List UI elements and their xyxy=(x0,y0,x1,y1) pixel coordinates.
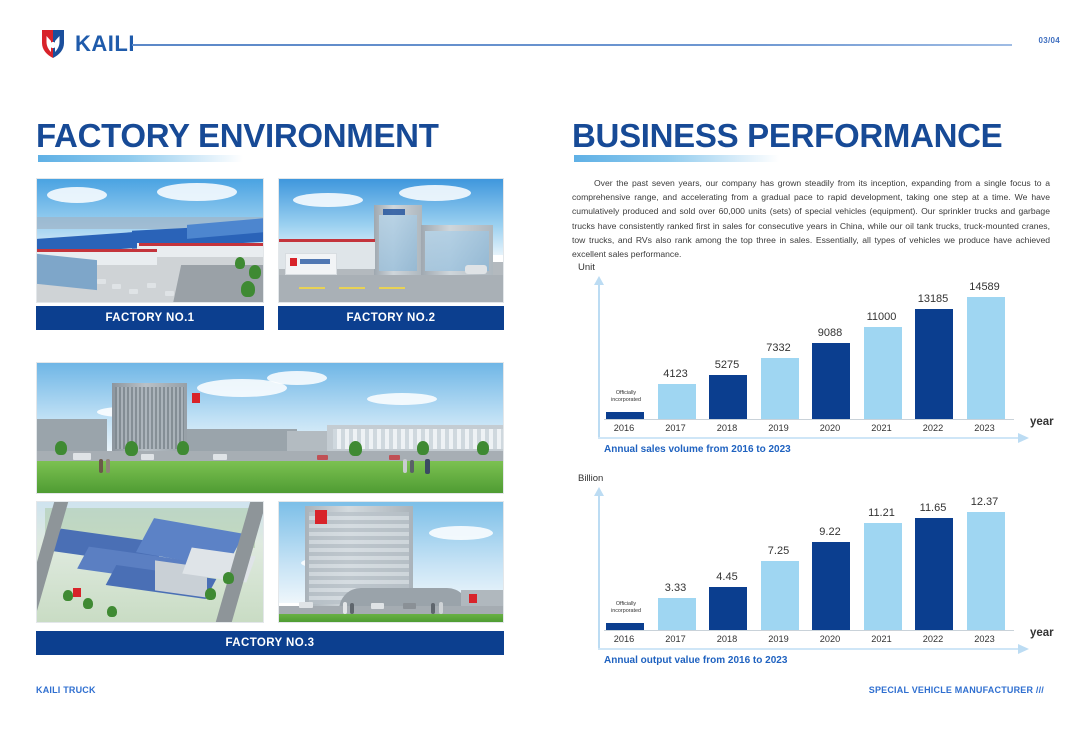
campus-rendering-photo xyxy=(36,362,504,494)
plant-aerial-rendering-photo xyxy=(36,501,264,623)
person xyxy=(403,459,407,473)
bar-2020 xyxy=(812,542,850,630)
bar-2019 xyxy=(761,561,799,630)
tree xyxy=(205,588,216,600)
x-tick-2020: 2020 xyxy=(806,423,854,433)
bar-2018 xyxy=(709,587,747,630)
x-axis-arrow-icon xyxy=(1018,433,1029,443)
factory-aerial-photo xyxy=(36,178,264,303)
business-paragraph: Over the past seven years, our company h… xyxy=(572,176,1050,261)
bar-value-2022: 13185 xyxy=(909,293,957,305)
tree xyxy=(55,441,67,455)
x-axis xyxy=(598,437,1018,439)
tower-sign xyxy=(383,209,405,215)
bar-value-2023: 12.37 xyxy=(961,496,1009,508)
bar-value-2019: 7.25 xyxy=(755,545,803,557)
left-block xyxy=(37,419,107,451)
road xyxy=(279,275,503,303)
tree xyxy=(83,598,93,609)
bar-value-2021: 11000 xyxy=(858,311,906,323)
tree xyxy=(249,265,261,279)
truck-logo-icon xyxy=(290,258,297,266)
person xyxy=(343,602,347,614)
bar-value-2017: 3.33 xyxy=(652,582,700,594)
cloud xyxy=(429,526,493,540)
x-tick-2020: 2020 xyxy=(806,634,854,644)
tree xyxy=(477,441,489,455)
y-axis-arrow-icon xyxy=(594,487,604,496)
tree xyxy=(241,281,255,297)
chart1-ylabel: Unit xyxy=(578,262,595,273)
person xyxy=(99,459,103,473)
factory-section-title: FACTORY ENVIRONMENT xyxy=(36,117,439,155)
warehouse xyxy=(37,254,97,290)
tree xyxy=(223,572,234,584)
bar-2020 xyxy=(812,343,850,419)
bar-2022 xyxy=(915,309,953,419)
x-tick-2018: 2018 xyxy=(703,423,751,433)
road-stripe xyxy=(299,287,325,289)
tree xyxy=(107,606,117,617)
headquarters-rendering-photo xyxy=(278,501,504,623)
bar-2017 xyxy=(658,384,696,419)
y-axis xyxy=(598,496,600,648)
factory-2-caption: FACTORY NO.2 xyxy=(278,306,504,330)
cloud xyxy=(157,183,237,201)
bar-2016 xyxy=(606,623,644,630)
business-section-title: BUSINESS PERFORMANCE xyxy=(572,117,1002,155)
x-axis xyxy=(598,648,1018,650)
road-stripe xyxy=(339,287,365,289)
bar-value-2018: 4.45 xyxy=(703,571,751,583)
road-stripe xyxy=(379,287,405,289)
plant-logo-icon xyxy=(73,588,81,597)
office-building-photo xyxy=(278,178,504,303)
side-logo-icon xyxy=(469,594,477,603)
bar-2023 xyxy=(967,297,1005,419)
person xyxy=(439,602,443,614)
brand-name: KAILI xyxy=(75,31,135,57)
header-divider xyxy=(132,44,1012,46)
chart2-xlabel: year xyxy=(1030,627,1054,639)
tree xyxy=(125,441,138,456)
x-tick-2019: 2019 xyxy=(755,423,803,433)
bar-2021 xyxy=(864,327,902,419)
facade-band xyxy=(139,243,264,246)
page-header: KAILI 03/04 xyxy=(0,0,1080,78)
chart2-title: Annual output value from 2016 to 2023 xyxy=(604,655,787,666)
x-tick-2016: 2016 xyxy=(600,634,648,644)
cloud xyxy=(267,371,327,385)
x-tick-2017: 2017 xyxy=(652,423,700,433)
bar-2023 xyxy=(967,512,1005,630)
bar-value-2019: 7332 xyxy=(755,342,803,354)
tower-glass xyxy=(379,215,417,271)
x-tick-2016: 2016 xyxy=(600,423,648,433)
x-axis-arrow-icon xyxy=(1018,644,1029,654)
tower-facade xyxy=(115,387,184,449)
car xyxy=(403,603,416,609)
bar-value-2017: 4123 xyxy=(652,368,700,380)
facade-band xyxy=(37,249,157,252)
car xyxy=(371,603,384,609)
person xyxy=(431,603,435,614)
car xyxy=(213,454,227,460)
footer-right: SPECIAL VEHICLE MANUFACTURER /// xyxy=(869,685,1044,695)
bar-2022 xyxy=(915,518,953,630)
car xyxy=(389,455,400,460)
car xyxy=(465,265,487,274)
cloud xyxy=(293,193,363,207)
x-tick-2022: 2022 xyxy=(909,634,957,644)
tower-logo-icon xyxy=(315,510,327,524)
factory-1-caption: FACTORY NO.1 xyxy=(36,306,264,330)
car xyxy=(97,279,106,284)
year-row-divider xyxy=(604,630,1014,631)
chart1-xlabel: year xyxy=(1030,416,1054,428)
bar-value-2018: 5275 xyxy=(703,359,751,371)
footer-left: KAILI TRUCK xyxy=(36,685,96,695)
x-tick-2018: 2018 xyxy=(703,634,751,644)
cloud xyxy=(47,187,107,203)
tree xyxy=(349,441,362,456)
tree xyxy=(63,590,73,601)
bar-2021 xyxy=(864,523,902,630)
factory-3-caption: FACTORY NO.3 xyxy=(36,631,504,655)
bar-value-2020: 9.22 xyxy=(806,526,854,538)
officially-incorporated-note: Officially incorporated xyxy=(603,601,649,614)
bar-2018 xyxy=(709,375,747,419)
annual-sales-volume-chart: year Officially incorporated201641232017… xyxy=(572,276,1050,448)
car xyxy=(147,283,156,288)
x-tick-2022: 2022 xyxy=(909,423,957,433)
person xyxy=(106,459,110,473)
x-tick-2021: 2021 xyxy=(858,634,906,644)
podium xyxy=(187,429,297,451)
cloud xyxy=(367,393,437,405)
car xyxy=(141,454,154,460)
business-title-underline xyxy=(574,155,779,162)
y-axis-arrow-icon xyxy=(594,276,604,285)
car xyxy=(129,289,138,294)
paragraph-text: Over the past seven years, our company h… xyxy=(572,178,1050,259)
x-tick-2019: 2019 xyxy=(755,634,803,644)
tree xyxy=(417,441,429,455)
y-axis xyxy=(598,285,600,437)
person xyxy=(410,460,414,473)
factory-title-underline xyxy=(38,155,243,162)
x-tick-2023: 2023 xyxy=(961,423,1009,433)
x-tick-2021: 2021 xyxy=(858,423,906,433)
car xyxy=(317,455,328,460)
tower-logo-icon xyxy=(192,393,200,403)
bar-2017 xyxy=(658,598,696,630)
bar-value-2021: 11.21 xyxy=(858,507,906,519)
officially-incorporated-note: Officially incorporated xyxy=(603,390,649,403)
tree xyxy=(177,441,189,455)
car xyxy=(112,284,121,289)
person xyxy=(350,603,354,614)
page-number: 03/04 xyxy=(1038,36,1060,45)
x-tick-2023: 2023 xyxy=(961,634,1009,644)
x-tick-2017: 2017 xyxy=(652,634,700,644)
year-row-divider xyxy=(604,419,1014,420)
chart1-title: Annual sales volume from 2016 to 2023 xyxy=(604,444,791,455)
kaili-shield-icon xyxy=(40,28,66,60)
car xyxy=(299,602,313,608)
facade-band xyxy=(279,239,375,242)
tree xyxy=(235,257,245,269)
cloud xyxy=(399,185,471,201)
annual-output-value-chart: year Officially incorporated20163.332017… xyxy=(572,487,1050,659)
bar-value-2022: 11.65 xyxy=(909,502,957,514)
bus xyxy=(73,453,91,460)
bar-value-2023: 14589 xyxy=(961,281,1009,293)
truck-text xyxy=(300,259,330,264)
chart2-ylabel: Billion xyxy=(578,473,603,484)
bar-value-2020: 9088 xyxy=(806,327,854,339)
car xyxy=(165,291,174,296)
person xyxy=(425,459,430,474)
bar-2016 xyxy=(606,412,644,419)
brand-logo[interactable]: KAILI xyxy=(40,28,135,60)
bar-2019 xyxy=(761,358,799,419)
